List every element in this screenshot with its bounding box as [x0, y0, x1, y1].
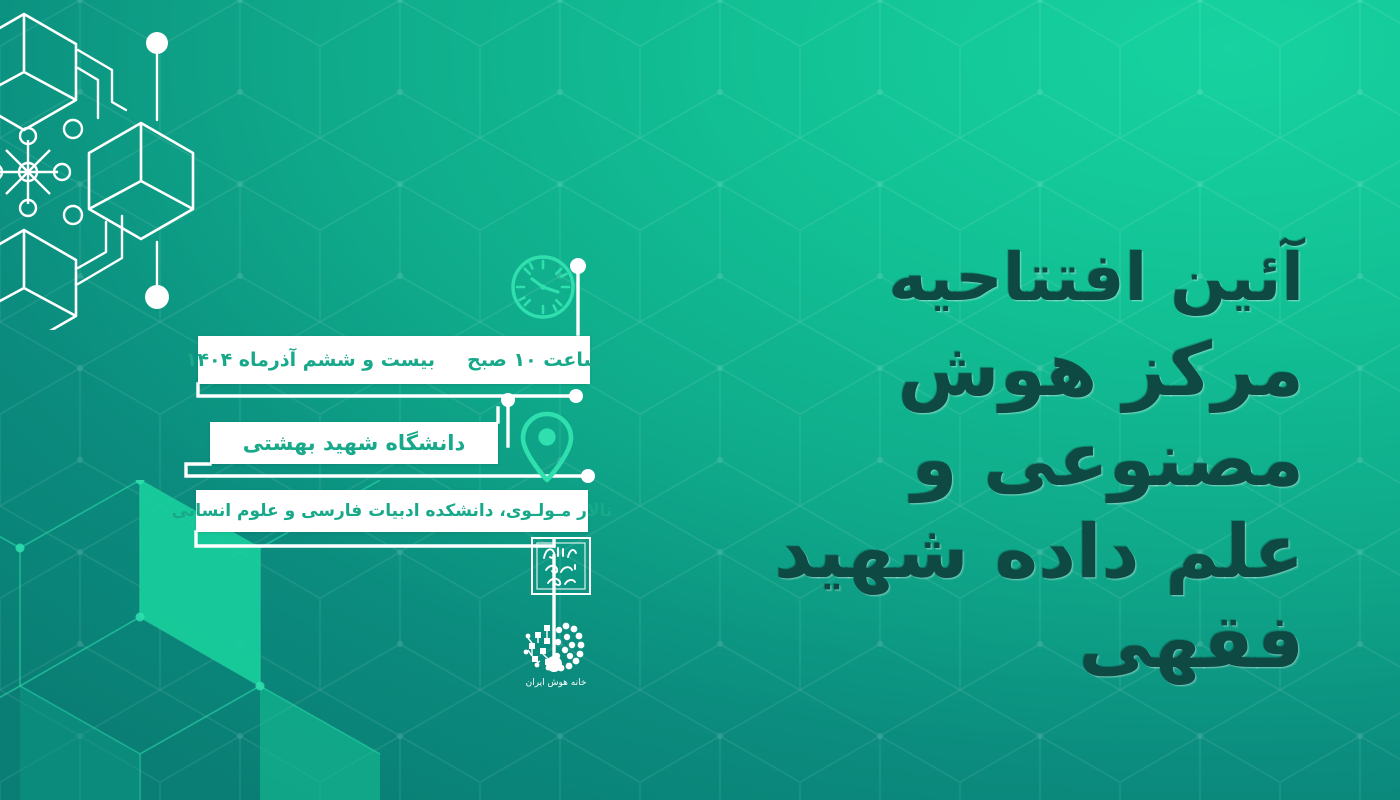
ai-logo-caption: خانه هوش ایران — [526, 678, 587, 688]
event-details-panel: ساعت ۱۰ صبح بیست و ششم آذرماه ۱۴۰۴ دانشگ… — [0, 240, 620, 720]
poster-root: آئین افتتاحیه مرکز هوش مصنوعی و علم داده… — [0, 0, 1400, 800]
university-chip: دانشگاه شهید بهشتی — [210, 422, 498, 464]
clock-icon — [508, 252, 578, 322]
location-pin-icon — [516, 408, 578, 486]
shahid-beheshti-university-logo — [530, 536, 592, 596]
ai-brain-logo: خانه هوش ایران — [520, 616, 592, 690]
headline-line-1: آئین افتتاحیه — [644, 238, 1304, 319]
logo-group: خانه هوش ایران — [516, 536, 592, 694]
venue-chip: تالار مـولـوی، دانشکده ادبیات فارسی و عل… — [196, 490, 588, 532]
date-time-chip: ساعت ۱۰ صبح بیست و ششم آذرماه ۱۴۰۴ — [198, 336, 590, 384]
headline-line-2: مرکز هوش مصنوعی و — [644, 325, 1304, 506]
poster-headline: آئین افتتاحیه مرکز هوش مصنوعی و علم داده… — [644, 238, 1304, 688]
date-text: بیست و ششم آذرماه ۱۴۰۴ — [170, 336, 451, 384]
time-text: ساعت ۱۰ صبح — [451, 336, 618, 384]
headline-line-3: علم داده شهید فقهی — [644, 507, 1304, 688]
